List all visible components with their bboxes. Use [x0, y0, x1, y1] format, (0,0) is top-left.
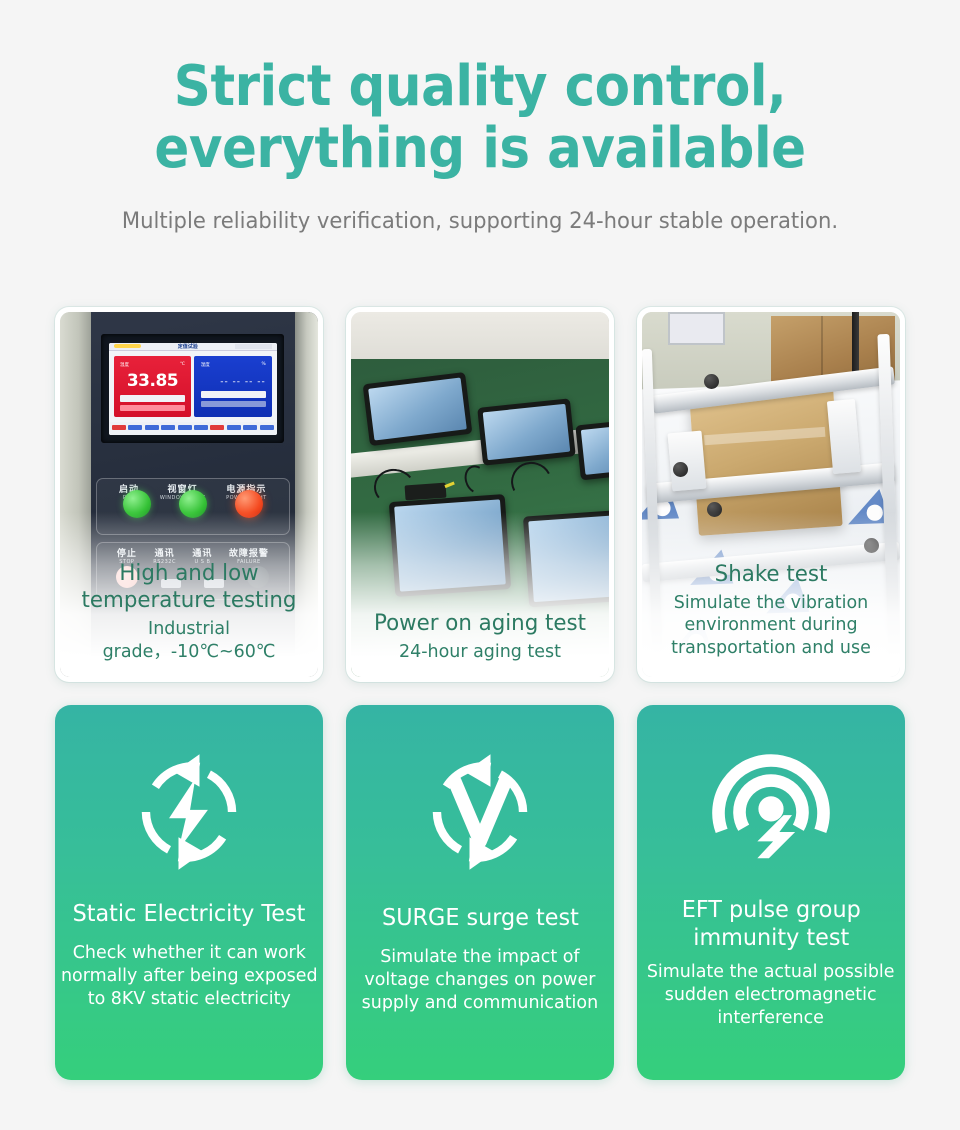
photo-frame: 定值试验 温度 ℃ 33.85 — [60, 312, 318, 677]
icon-card-description: Check whether it can work normally after… — [61, 941, 318, 1010]
clamp-knob — [673, 462, 688, 477]
aging-monitor — [575, 418, 609, 479]
lcd-chip-row — [112, 425, 274, 430]
aging-monitor — [477, 399, 575, 467]
photo-card-caption: High and low temperature testing Industr… — [60, 561, 318, 663]
photo-card-subtitle: Industrial grade，-10℃~60℃ — [68, 618, 311, 663]
icon-card-title: EFT pulse group immunity test — [676, 897, 867, 952]
lcd-temperature-pane: 温度 ℃ 33.85 — [114, 356, 192, 417]
page-title: Strict quality control, everything is av… — [38, 56, 921, 179]
clamp-knob — [704, 374, 719, 389]
power-plug — [405, 482, 447, 499]
photo-card-subtitle: 24-hour aging test — [359, 641, 602, 664]
page-title-line1: Strict quality control, — [174, 54, 786, 119]
controller-lcd: 定值试验 温度 ℃ 33.85 — [109, 343, 278, 435]
icon-card-static-electricity[interactable]: Static Electricity Test Check whether it… — [55, 705, 323, 1080]
controller-bezel: 定值试验 温度 ℃ 33.85 — [101, 334, 284, 444]
aging-monitor — [363, 372, 473, 446]
icon-card-title: SURGE surge test — [376, 905, 584, 933]
eft-pulse-icon — [708, 749, 834, 875]
lcd-temp-unit: ℃ — [180, 362, 185, 368]
photo-card-subtitle: Simulate the vibration environment durin… — [650, 592, 893, 660]
photo-card-title: Power on aging test — [359, 611, 602, 638]
icon-card-description: Simulate the impact of voltage changes o… — [360, 945, 600, 1014]
lcd-hum-unit: % — [262, 362, 266, 368]
page-header: Strict quality control, everything is av… — [0, 0, 960, 234]
photo-card-title: High and low temperature testing — [68, 561, 311, 615]
photo-frame: Power on aging test 24-hour aging test — [351, 312, 609, 677]
lcd-temp-value: 33.85 — [120, 371, 185, 391]
clamp — [668, 431, 706, 492]
lcd-hum-value: -- -- -- -- — [201, 377, 266, 387]
photo-card-title: Shake test — [650, 562, 893, 589]
lcd-humidity-pane: 湿度 % -- -- -- -- — [194, 356, 272, 417]
lcd-meta — [235, 344, 272, 349]
icon-card-surge[interactable]: SURGE surge test Simulate the impact of … — [346, 705, 614, 1080]
lcd-title: 定值试验 — [141, 343, 235, 350]
icon-card-description: Simulate the actual possible sudden elec… — [647, 960, 895, 1029]
test-cards-grid: 定值试验 温度 ℃ 33.85 — [55, 307, 905, 1080]
page-subtitle: Multiple reliability verification, suppo… — [19, 209, 941, 234]
surge-voltage-icon — [417, 749, 543, 875]
quality-control-page: Strict quality control, everything is av… — [0, 0, 960, 1130]
photo-card-high-low-temperature[interactable]: 定值试验 温度 ℃ 33.85 — [55, 307, 323, 682]
photo-card-shake-test[interactable]: Shake test Simulate the vibration enviro… — [637, 307, 905, 682]
icon-card-title: Static Electricity Test — [67, 901, 311, 929]
photo-card-caption: Shake test Simulate the vibration enviro… — [642, 562, 900, 659]
photo-card-power-on-aging[interactable]: Power on aging test 24-hour aging test — [346, 307, 614, 682]
photo-card-caption: Power on aging test 24-hour aging test — [351, 611, 609, 663]
lcd-run-button — [114, 344, 141, 348]
lcd-hum-label: 湿度 — [201, 362, 210, 368]
photo-frame: Shake test Simulate the vibration enviro… — [642, 312, 900, 677]
lcd-temp-label: 温度 — [120, 362, 129, 368]
icon-card-eft-pulse[interactable]: EFT pulse group immunity test Simulate t… — [637, 705, 905, 1080]
static-electricity-icon — [126, 749, 252, 875]
page-title-line2: everything is available — [38, 118, 921, 180]
